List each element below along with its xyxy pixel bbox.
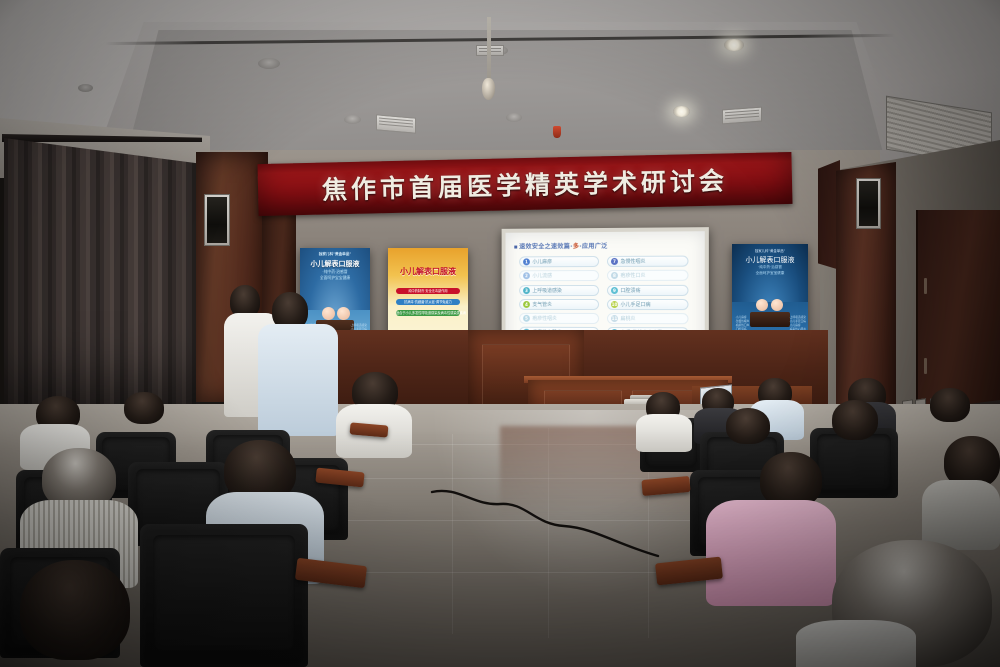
- hanging-fixture-cable: [487, 17, 491, 83]
- slide-item-label: 口腔溃疡: [620, 287, 640, 294]
- slide-item-number-badge: 5: [523, 315, 530, 322]
- rollup-dark-title: 小儿解表口服液: [732, 255, 808, 265]
- person-head: [832, 400, 878, 440]
- slide-list-item: 2小儿流感: [519, 270, 599, 281]
- wall-speaker-right-icon: [856, 178, 881, 229]
- person-torso: [922, 480, 1000, 550]
- person-head: [930, 388, 970, 422]
- ceiling-downlight-icon: [724, 39, 744, 51]
- slide-list-item: 4支气管炎: [519, 299, 599, 310]
- auditorium-seat[interactable]: [140, 524, 308, 667]
- slide-item-label: 小儿手足口病: [620, 301, 650, 308]
- slide-list-item: 11扁桃炎: [607, 313, 689, 324]
- ceiling-downlight-icon: [258, 58, 280, 69]
- fire-sprinkler-icon: [553, 126, 561, 138]
- slide-title: 速效安全之速效篇·多·应用广泛: [514, 241, 607, 251]
- slide-title-suffix: 应用广泛: [582, 243, 608, 250]
- slide-item-label: 扁桃炎: [620, 315, 635, 322]
- slide-item-label: 支气管炎: [532, 301, 552, 308]
- slide-item-number-badge: 11: [611, 315, 618, 322]
- slide-item-label: 小儿麻疹: [532, 258, 552, 265]
- slide-list-item: 5疱疹性咽炎: [519, 313, 599, 324]
- rollup-dark-eyebrow: 独家儿科"黄金单品": [732, 248, 808, 253]
- slide-item-number-badge: 1: [523, 258, 530, 265]
- slide-list-item: 7急慢性咽炎: [607, 256, 689, 267]
- conference-hall-photo: 焦作市首届医学精英学术研讨会 速效安全之速效篇·多·应用广泛 1小儿麻疹2小儿流…: [0, 0, 1000, 667]
- person-head: [124, 392, 164, 424]
- person-head: [726, 408, 770, 444]
- slide-item-columns: 1小儿麻疹2小儿流感3上呼吸道感染4支气管炎5疱疹性咽炎6病毒性心肌炎 7急慢性…: [519, 256, 688, 339]
- slide-item-number-badge: 4: [523, 301, 530, 308]
- ceiling-downlight-icon: [78, 84, 93, 92]
- person-torso: [706, 500, 836, 606]
- person-torso: [258, 324, 338, 436]
- rollup-claim-bar: 抗病毒·抗细菌·抗炎症·调节免疫力: [396, 299, 460, 305]
- rollup-dark-sub2: 全面呵护宝宝健康: [732, 271, 808, 276]
- slide-item-number-badge: 7: [611, 258, 618, 265]
- slide-title-bullet-icon: [514, 245, 517, 248]
- slide-right-column: 7急慢性咽炎8疱疹性口炎9口腔溃疡10小儿手足口病11扁桃炎12产后·带状疱疹病…: [607, 256, 689, 339]
- child-illustration-icon: [322, 307, 335, 320]
- ceiling-downlight-icon: [506, 113, 522, 122]
- window-curtain: [4, 138, 200, 423]
- wall-speaker-left-icon: [204, 194, 230, 246]
- event-banner-text: 焦作市首届医学精英学术研讨会: [322, 161, 729, 206]
- power-cable-icon: [430, 470, 660, 560]
- slide-list-item: 8疱疹性口炎: [607, 270, 689, 281]
- rollup-blue-title: 小儿解表口服液: [300, 259, 370, 269]
- rollup-yellow-title: 小儿解表口服液: [388, 266, 468, 277]
- person-head: [20, 560, 130, 660]
- door-handle-icon[interactable]: [924, 358, 927, 374]
- slide-item-label: 上呼吸道感染: [532, 287, 562, 294]
- hanging-fixture-icon: [482, 78, 495, 100]
- slide-item-label: 小儿流感: [532, 272, 552, 279]
- rollup-claim-bar: 纯中药制剂 安全无毒副作用: [396, 288, 460, 294]
- air-vent-icon: [722, 107, 762, 125]
- ceiling-downlight-icon: [673, 106, 690, 117]
- slide-item-label: 疱疹性咽炎: [532, 315, 557, 322]
- slide-title-highlight: 多: [573, 243, 579, 250]
- air-vent-icon: [376, 114, 416, 133]
- child-illustration-icon: [756, 299, 768, 311]
- slide-item-number-badge: 2: [523, 273, 530, 280]
- rollup-claim-bar: 适合于小儿多发性呼吸道感染及病毒性感染类疾病: [396, 310, 460, 316]
- slide-item-number-badge: 10: [611, 301, 618, 308]
- slide-list-item: 3上呼吸道感染: [519, 285, 599, 296]
- rollup-dark-sub1: ·纯中药·治感冒: [732, 265, 808, 270]
- slide-item-label: 疱疹性口炎: [620, 272, 645, 279]
- door-handle-icon[interactable]: [924, 278, 927, 294]
- slide-list-item: 10小儿手足口病: [607, 299, 689, 310]
- rollup-blue-eyebrow: 独家儿科"黄金单品": [300, 252, 370, 257]
- slide-item-label: 急慢性咽炎: [620, 258, 645, 265]
- rollup-blue-sub2: 全面呵护宝宝健康: [300, 275, 370, 281]
- child-illustration-icon: [771, 299, 783, 311]
- slide-title-prefix: 速效安全之速效篇: [519, 243, 570, 250]
- slide-list-item: 1小儿麻疹: [519, 256, 599, 267]
- slide-item-number-badge: 9: [611, 287, 618, 294]
- slide-item-number-badge: 3: [523, 287, 530, 294]
- child-illustration-icon: [337, 307, 350, 320]
- person-torso: [636, 414, 692, 452]
- slide-item-number-badge: 8: [611, 272, 618, 279]
- person-torso: [796, 620, 916, 667]
- slide-left-column: 1小儿麻疹2小儿流感3上呼吸道感染4支气管炎5疱疹性咽炎6病毒性心肌炎: [519, 256, 599, 338]
- slide-list-item: 9口腔溃疡: [607, 284, 689, 295]
- product-box-illustration: [750, 312, 790, 327]
- ceiling-downlight-icon: [344, 115, 361, 124]
